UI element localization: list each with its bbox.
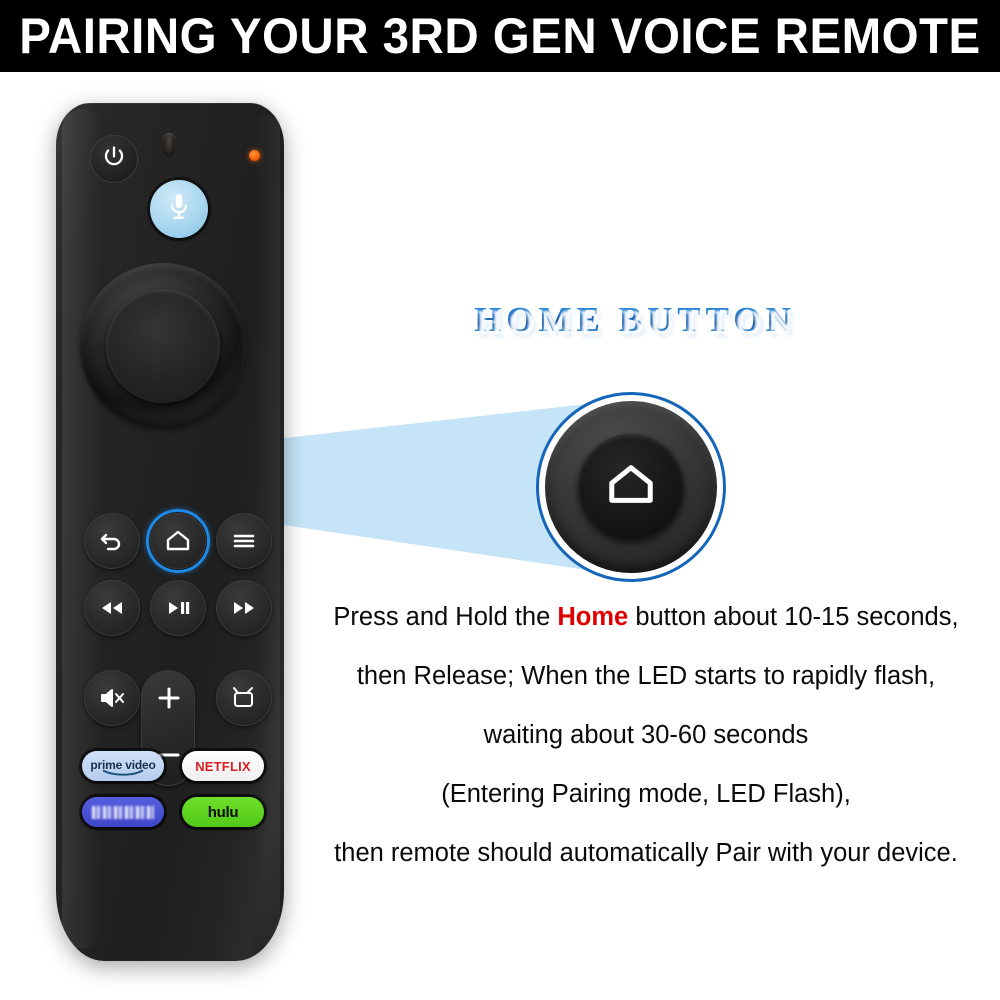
instruction-line-2: then Release; When the LED starts to rap… [296,647,996,706]
play-pause-button[interactable] [150,580,206,636]
instruction-line-1-post: button about 10-15 seconds, [628,603,958,631]
play-pause-icon [165,599,191,617]
instruction-text: Press and Hold the Home button about 10-… [296,588,996,883]
microphone-slot [162,133,176,157]
instruction-line-1: Press and Hold the Home button about 10-… [296,588,996,647]
hulu-label: hulu [208,804,238,821]
header-banner: PAIRING YOUR 3RD GEN VOICE REMOTE [0,0,1000,72]
back-button[interactable] [84,513,140,569]
page-title: PAIRING YOUR 3RD GEN VOICE REMOTE [19,11,980,61]
home-icon [604,460,658,515]
rewind-icon [99,599,125,617]
fast-forward-button[interactable] [216,580,272,636]
menu-button[interactable] [216,513,272,569]
select-button[interactable] [106,289,220,403]
home-button-highlight-ring [146,509,210,573]
instruction-line-3: waiting about 30-60 seconds [296,706,996,765]
voice-button[interactable] [150,180,208,238]
fast-forward-icon [231,599,257,617]
volume-up-button[interactable] [142,683,196,717]
live-tv-button[interactable] [216,670,272,726]
netflix-label: NETFLIX [195,759,251,774]
instruction-line-5: then remote should automatically Pair wi… [296,824,996,883]
disney-plus-button[interactable] [82,797,164,827]
prime-video-button[interactable]: prime video [82,751,164,781]
status-led [249,150,260,161]
mute-speaker-icon [98,687,126,709]
power-icon [101,144,127,175]
callout-home-button [578,434,684,540]
pairing-instruction-page: PAIRING YOUR 3RD GEN VOICE REMOTE [0,0,1000,1000]
plus-icon [156,685,182,716]
voice-remote: prime video NETFLIX hulu [50,95,290,965]
hamburger-menu-icon [231,531,257,551]
netflix-button[interactable]: NETFLIX [182,751,264,781]
instruction-line-4: (Entering Pairing mode, LED Flash), [296,765,996,824]
disney-plus-label-blurred [92,806,154,819]
home-button-callout [536,392,726,582]
prime-smile-icon [100,769,146,776]
back-arrow-icon [99,529,125,553]
instruction-home-highlight: Home [557,603,628,631]
power-button[interactable] [90,135,138,183]
callout-heading: HOME BUTTON [455,302,815,337]
microphone-icon [166,192,192,227]
navigation-ring[interactable] [80,263,246,429]
tv-icon [230,685,258,711]
hulu-button[interactable]: hulu [182,797,264,827]
rewind-button[interactable] [84,580,140,636]
instruction-line-1-pre: Press and Hold the [333,603,557,631]
mute-button[interactable] [84,670,140,726]
